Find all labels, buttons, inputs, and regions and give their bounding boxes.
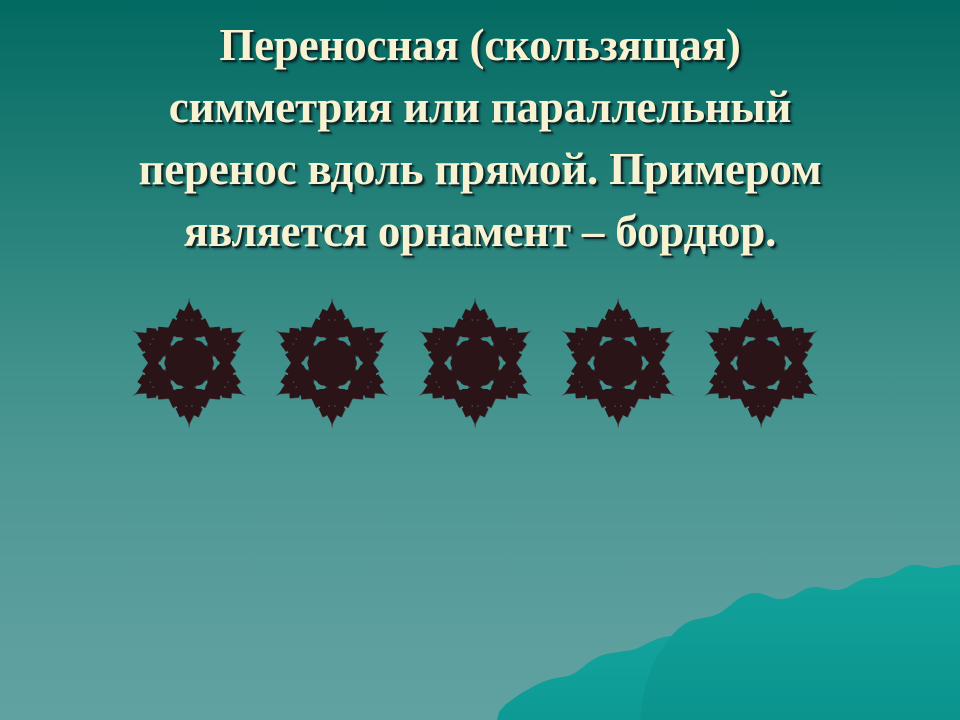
ornament-snowflake: [408, 296, 542, 430]
ornament-border-strip: [122, 296, 828, 430]
ornament-snowflake: [265, 296, 399, 430]
ornament-snowflake: [551, 296, 685, 430]
ornament-snowflake: [122, 296, 256, 430]
title-line-4: является орнамент – бордюр.: [50, 200, 910, 262]
ridge-front-path: [640, 565, 960, 720]
title-line-2: симметрия или параллельный: [50, 76, 910, 138]
slide-title: Переносная (скользящая) симметрия или па…: [50, 14, 910, 262]
ridge-back-path: [497, 591, 960, 720]
slide-canvas: Переносная (скользящая) симметрия или па…: [0, 0, 960, 720]
title-line-1: Переносная (скользящая): [50, 14, 910, 76]
ornament-snowflake: [694, 296, 828, 430]
title-line-3: перенос вдоль прямой. Примером: [50, 138, 910, 200]
